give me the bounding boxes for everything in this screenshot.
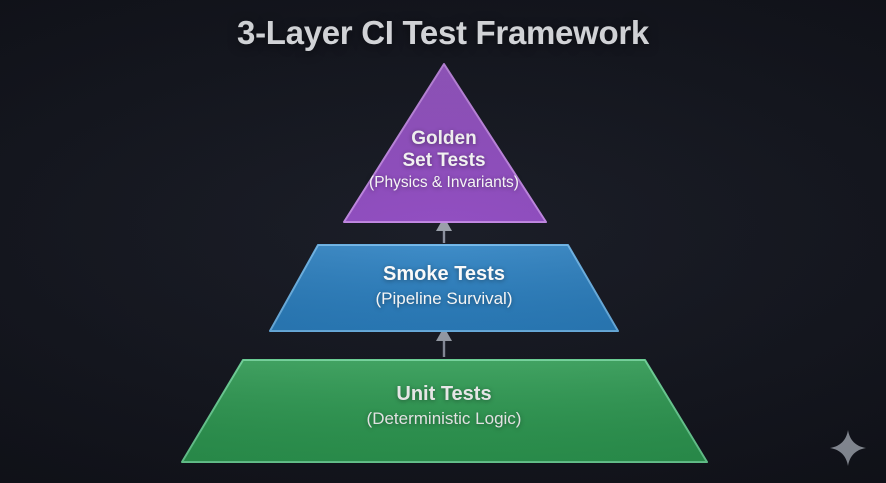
smoke-tests-shape-sheen — [270, 245, 618, 331]
slide-canvas: 3-Layer CI Test Framework — [0, 0, 886, 483]
pyramid-layer-unit[interactable] — [182, 360, 707, 462]
pyramid-layer-golden[interactable] — [344, 64, 546, 222]
pyramid-layer-smoke[interactable] — [270, 245, 618, 331]
sparkle-icon — [828, 428, 868, 468]
golden-set-tests-shape-sheen — [344, 64, 546, 222]
pyramid-diagram — [0, 0, 886, 483]
unit-tests-shape-sheen — [182, 360, 707, 462]
sparkle-icon-path — [830, 430, 866, 466]
